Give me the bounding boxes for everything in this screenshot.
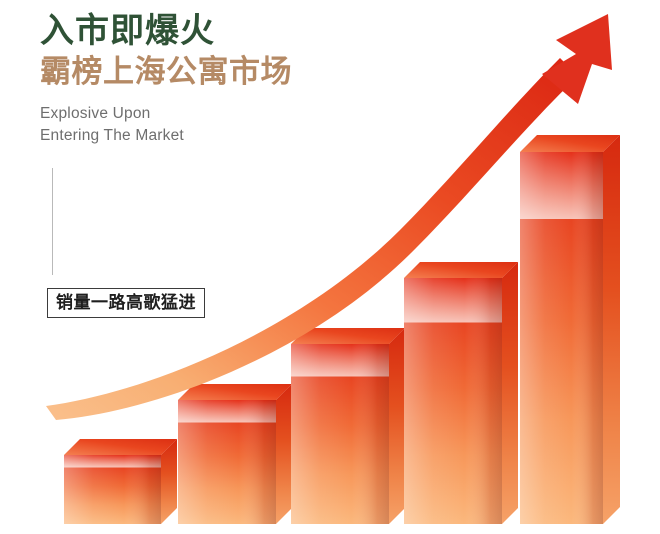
bar-column-4 <box>404 262 518 524</box>
bar-side-face <box>502 262 518 524</box>
bar-column-2 <box>178 384 292 524</box>
headline-english-line-2: Entering The Market <box>40 125 400 147</box>
bar-top-cap <box>64 439 177 455</box>
bar-side-face <box>389 328 405 524</box>
bar-side-face <box>276 384 292 524</box>
sales-callout-label: 销量一路高歌猛进 <box>56 294 196 311</box>
vertical-divider-rule <box>52 168 53 275</box>
bar-front-sheen <box>178 400 276 524</box>
headline-block: 入市即爆火 霸榜上海公寓市场 Explosive Upon Entering T… <box>40 12 400 147</box>
bar-top-cap <box>404 262 518 278</box>
poster-canvas: 入市即爆火 霸榜上海公寓市场 Explosive Upon Entering T… <box>0 0 660 534</box>
bar-column-3 <box>291 328 405 524</box>
headline-english: Explosive Upon Entering The Market <box>40 103 400 147</box>
bar-top-cap <box>520 135 620 152</box>
bar-column-5 <box>520 135 620 524</box>
headline-secondary: 霸榜上海公寓市场 <box>40 53 400 90</box>
bar-front-sheen <box>291 344 389 524</box>
sales-callout-badge: 销量一路高歌猛进 <box>47 288 205 318</box>
bar-front-sheen <box>404 278 502 524</box>
bar-side-face <box>603 135 620 524</box>
headline-primary: 入市即爆火 <box>40 12 400 51</box>
headline-english-line-1: Explosive Upon <box>40 103 400 125</box>
bar-column-1 <box>64 439 177 524</box>
bar-front-sheen <box>520 152 603 524</box>
bar-front-sheen <box>64 455 161 524</box>
